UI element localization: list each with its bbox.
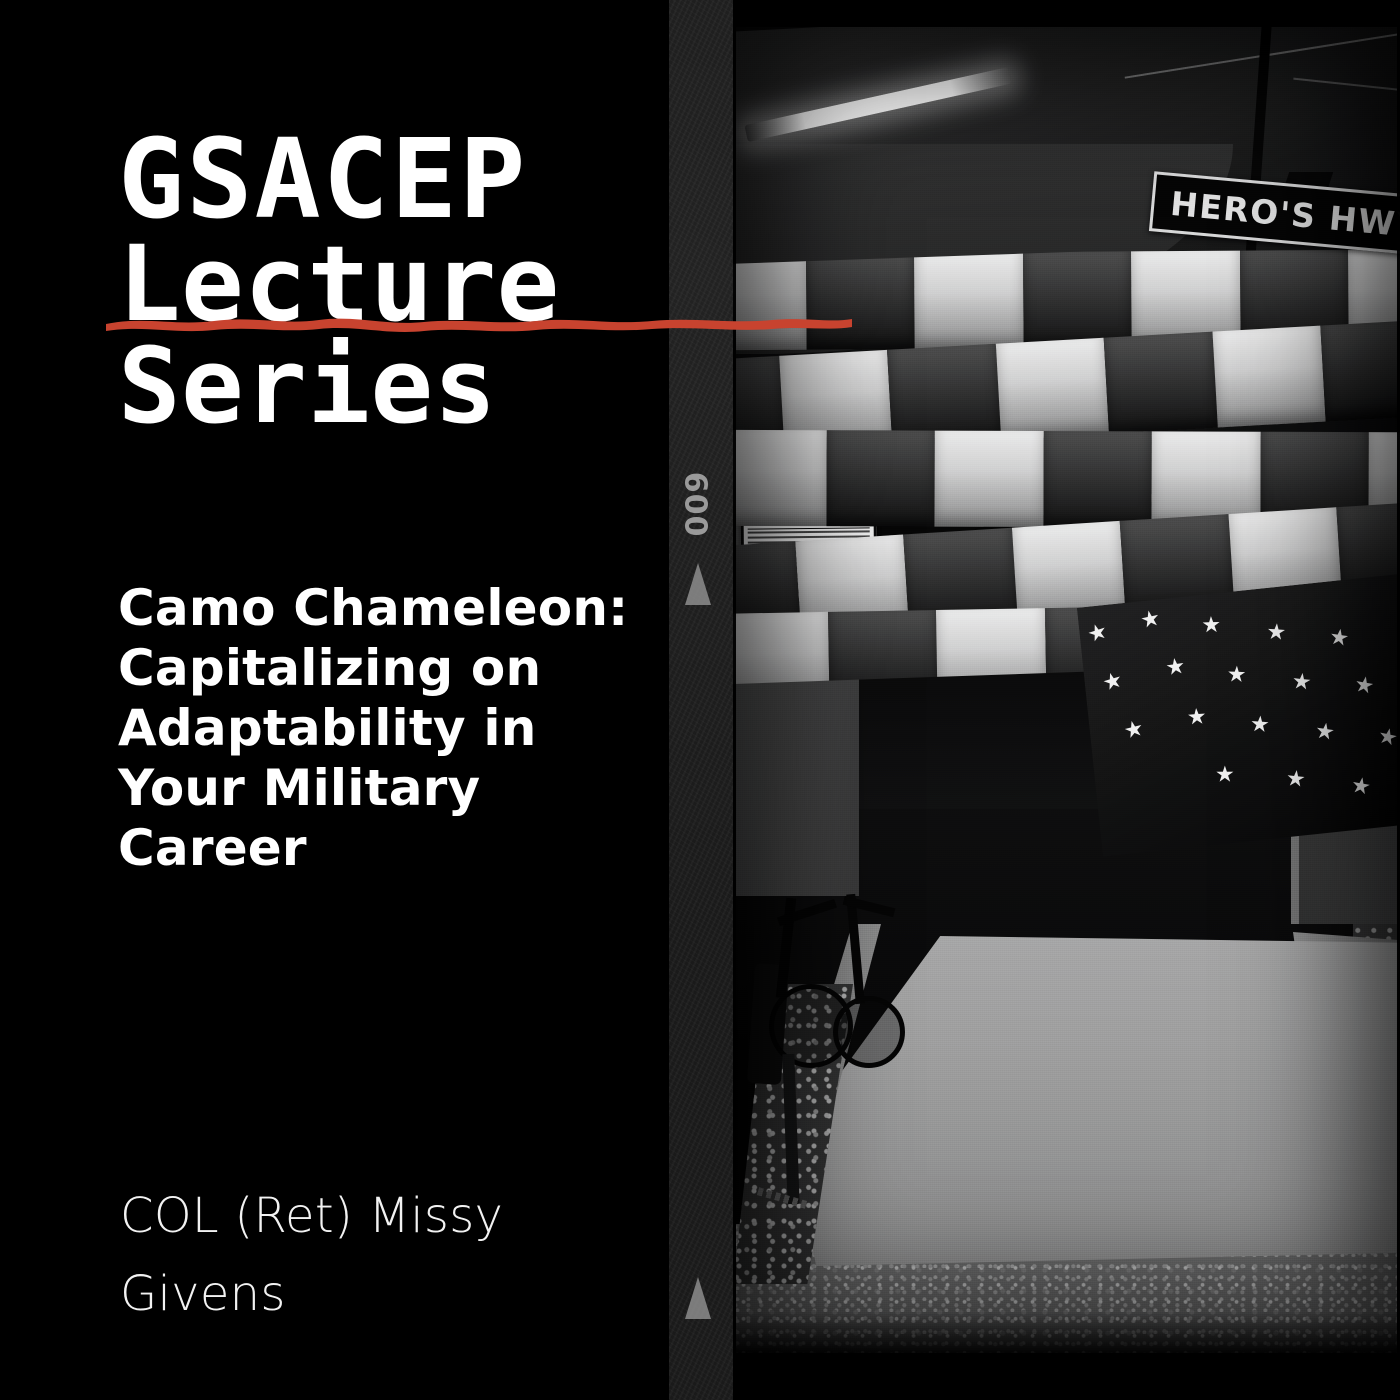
series-title-block: GSACEP Lecture Series [118,126,658,438]
film-strip-edge [663,0,669,1400]
american-flag: ★ ★ ★ ★ ★ ★ ★ ★ ★ ★ ★ ★ ★ ★ ★ ★ ★ ★ [1077,573,1400,856]
series-title-line-series: Series [118,336,658,438]
episode-speaker: COL (Ret) Missy Givens [120,1178,640,1334]
triangle-marker-icon [685,563,711,605]
triangle-marker-icon [685,1277,711,1319]
series-title-line-lecture: Lecture [118,234,658,336]
title-panel: GSACEP Lecture Series Camo Chameleon: Ca… [0,0,665,1400]
podcast-cover-art: GSACEP Lecture Series Camo Chameleon: Ca… [0,0,1400,1400]
series-title-line-gsacep: GSACEP [118,126,658,234]
bottom-shadow [733,1312,1400,1356]
wheelchair-wheel [833,996,905,1068]
film-strip-divider: 009 [663,0,733,1400]
episode-title: Camo Chameleon: Capitalizing on Adaptabi… [118,578,648,878]
film-frame-number: 009 [681,460,716,548]
cover-photograph: RULES DURING HELIPAD OPERATIONS BY ORDER… [733,24,1400,1356]
flag-star-field: ★ ★ ★ ★ ★ ★ ★ ★ ★ ★ ★ ★ ★ ★ ★ ★ ★ ★ [1077,573,1400,856]
